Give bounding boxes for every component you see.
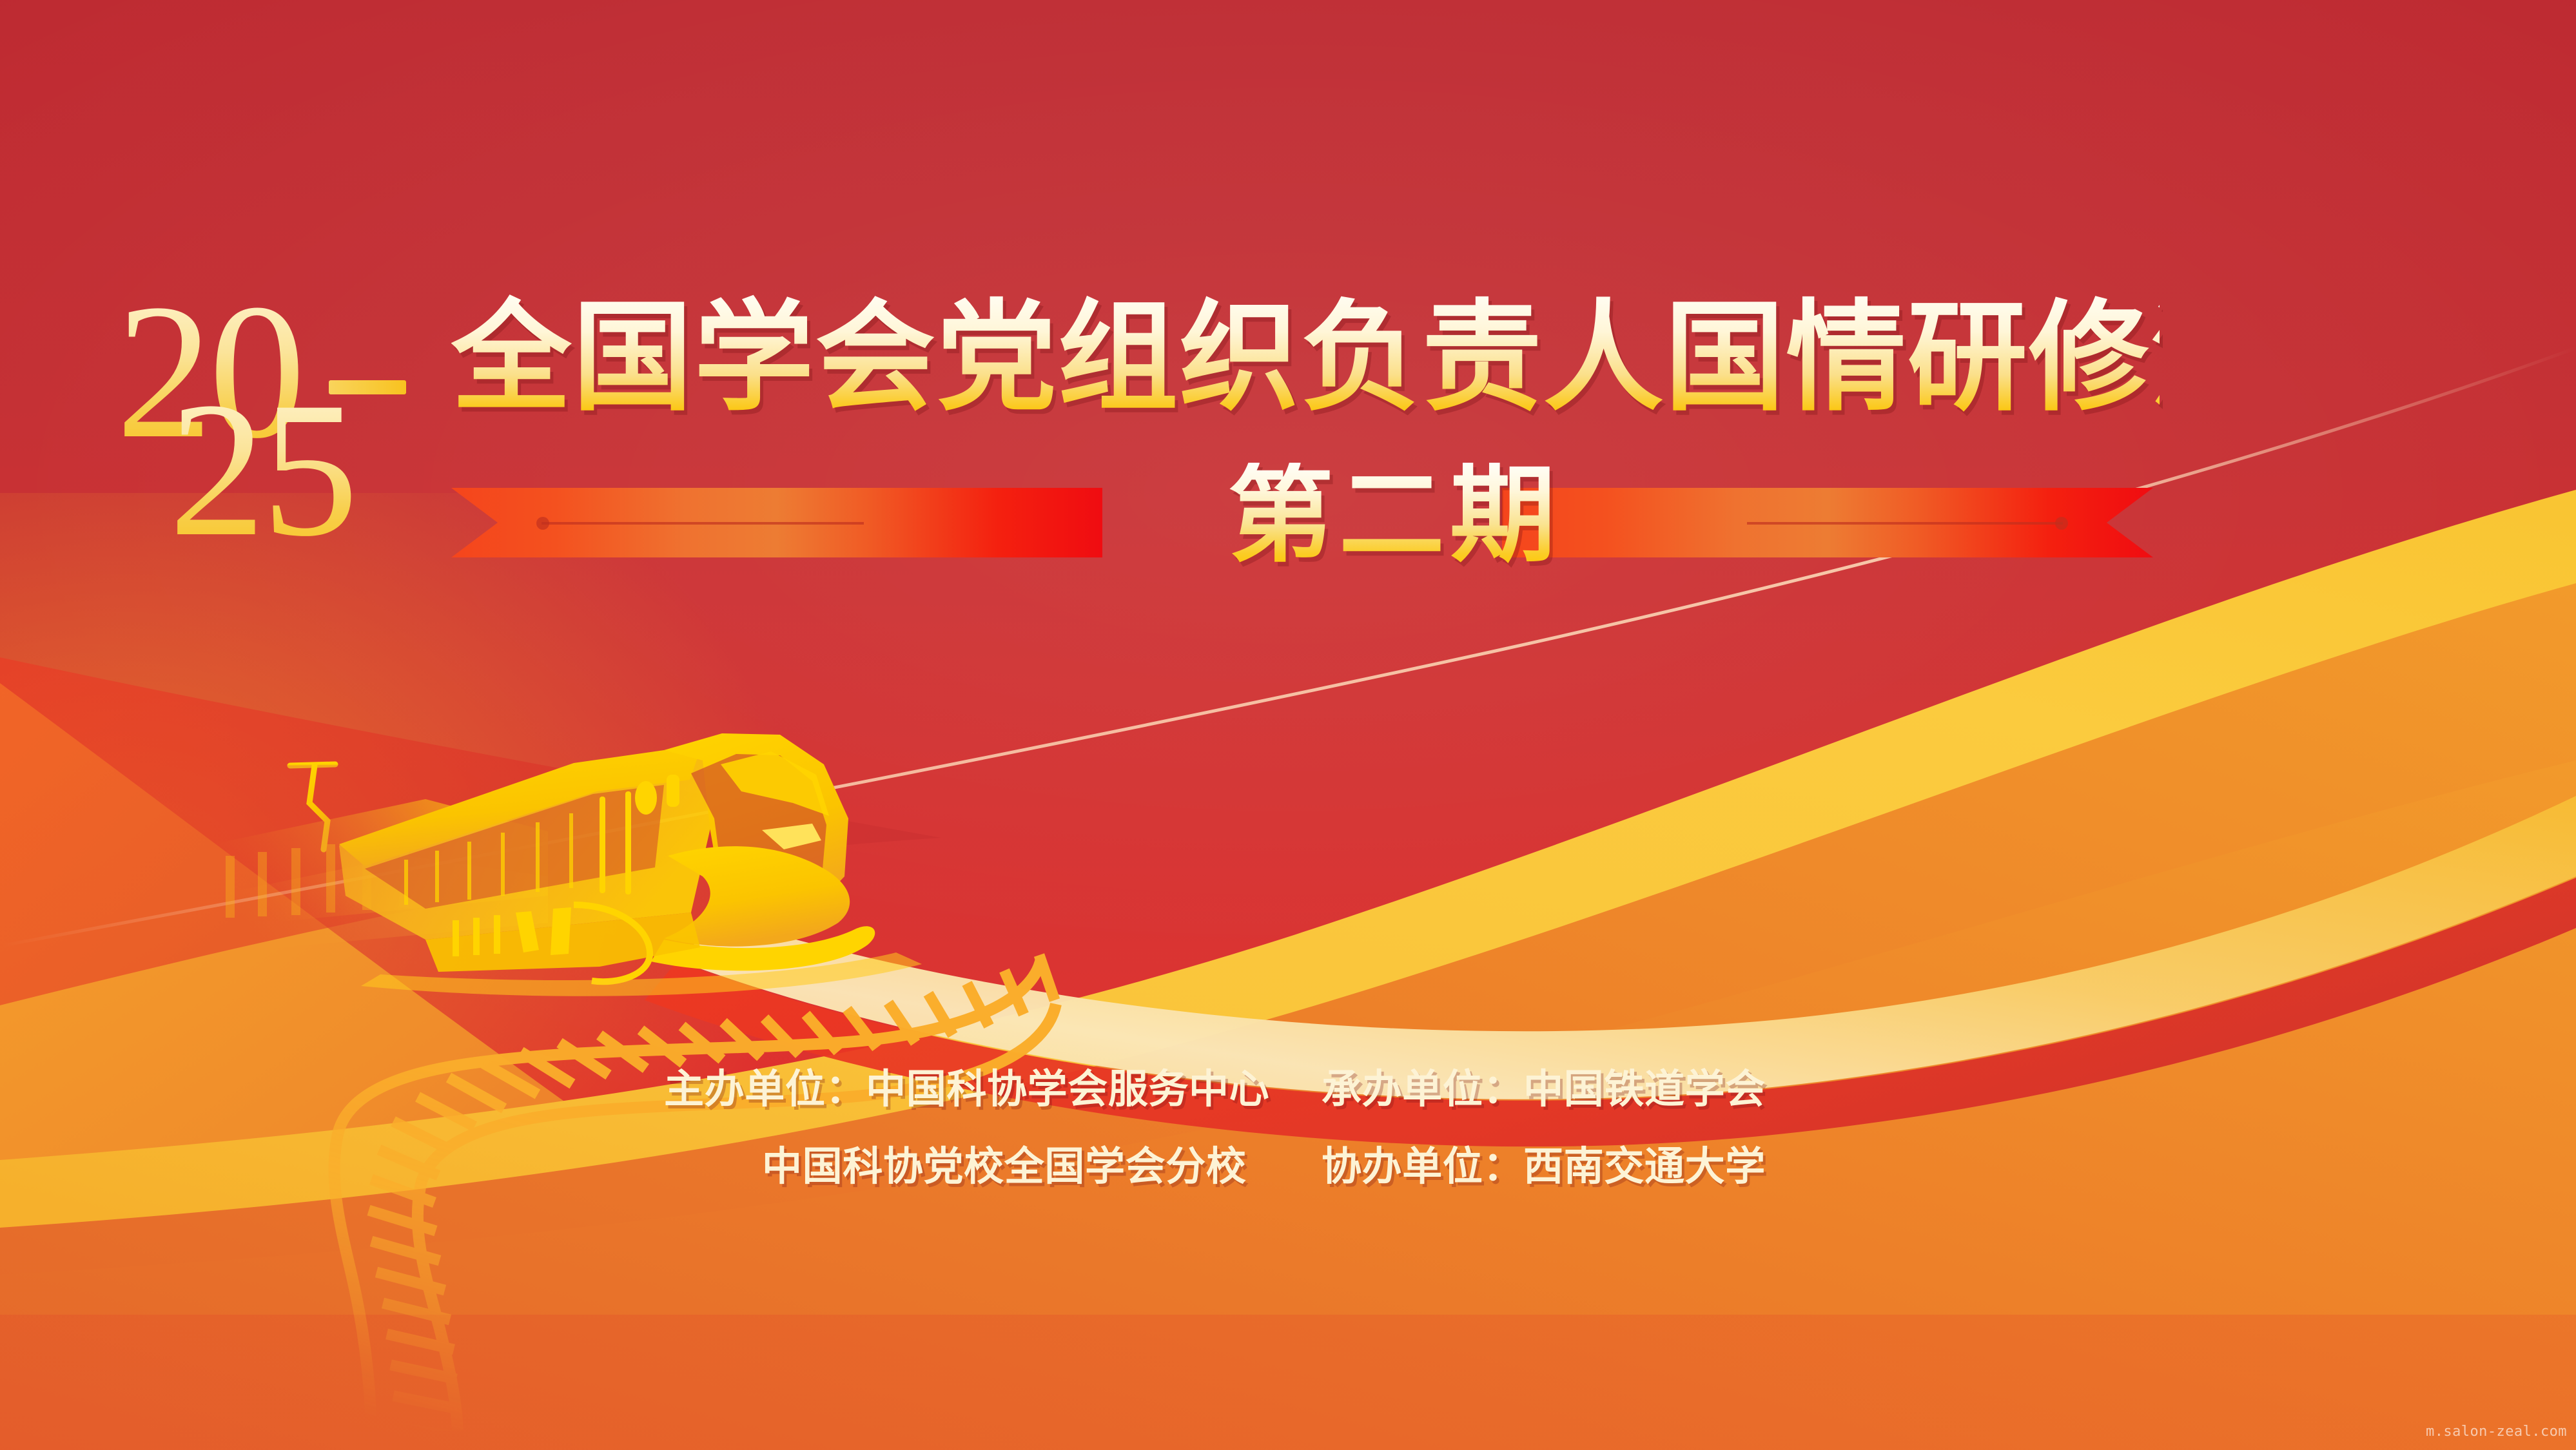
watermark: m.salon-zeal.com xyxy=(2426,1424,2567,1440)
organizer-line-2: 中国科协党校全国学会分校 xyxy=(664,1147,1322,1187)
page-subtitle: 第二期 xyxy=(0,463,2576,568)
credit-row: 中国科协党校全国学会分校 协办单位：西南交通大学 xyxy=(664,1147,1953,1187)
cohost-line: 协办单位：西南交通大学 xyxy=(1322,1147,1902,1187)
credits-block: 主办单位：中国科协学会服务中心 承办单位：中国铁道学会 中国科协党校全国学会分校… xyxy=(664,1070,1953,1187)
page-title: 全国学会党组织负责人国情研修活动 xyxy=(451,291,2160,425)
organizer-line: 主办单位：中国科协学会服务中心 xyxy=(664,1070,1322,1110)
poster-canvas: 20 25 全国学会党组织负责人国情研修活动 xyxy=(0,0,2576,1450)
host-line: 承办单位：中国铁道学会 xyxy=(1322,1070,1902,1110)
credit-row: 主办单位：中国科协学会服务中心 承办单位：中国铁道学会 xyxy=(664,1070,1953,1110)
